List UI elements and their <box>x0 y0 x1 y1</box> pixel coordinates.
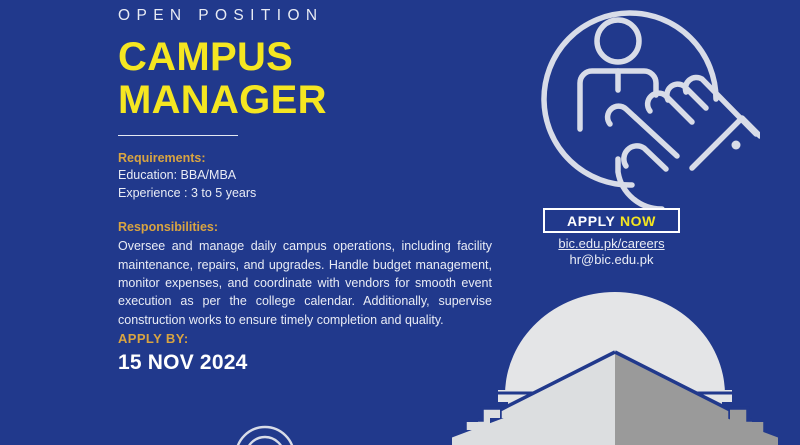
content-column-left: OPEN POSITION CAMPUS MANAGER Requirement… <box>118 0 510 445</box>
requirement-education: Education: BBA/MBA <box>118 167 510 185</box>
apply-by-date: 15 NOV 2024 <box>118 348 247 375</box>
job-posting-poster: OPEN POSITION CAMPUS MANAGER Requirement… <box>0 0 800 445</box>
requirement-experience: Experience : 3 to 5 years <box>118 185 510 203</box>
eyebrow-label: OPEN POSITION <box>118 0 510 26</box>
page-title: CAMPUS MANAGER <box>118 26 510 122</box>
requirements-label: Requirements: <box>118 136 510 167</box>
responsibilities-text: Oversee and manage daily campus operatio… <box>118 236 492 329</box>
apply-by-block: APPLY BY: 15 NOV 2024 <box>118 331 247 375</box>
hr-email-text[interactable]: hr@bic.edu.pk <box>520 252 703 268</box>
careers-url-link[interactable]: bic.edu.pk/careers <box>520 236 703 252</box>
job-title-line-1: CAMPUS <box>118 35 293 79</box>
apply-by-label: APPLY BY: <box>118 331 247 348</box>
content-column-right: APPLY NOW bic.edu.pk/careers hr@bic.edu.… <box>520 0 800 445</box>
job-title-line-2: MANAGER <box>118 79 510 122</box>
apply-now-button[interactable]: APPLY NOW <box>543 208 680 233</box>
apply-now-word-now: NOW <box>620 213 656 229</box>
apply-now-word-apply: APPLY <box>567 213 615 229</box>
responsibilities-label: Responsibilities: <box>118 202 510 236</box>
